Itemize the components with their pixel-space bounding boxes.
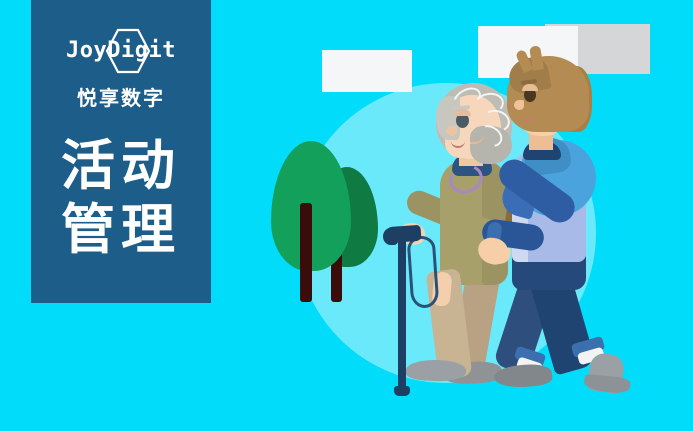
poster-canvas: JoyDigit 悦享数字 活动 管理 (0, 0, 693, 431)
man-shoe-front-sole (583, 374, 630, 395)
page-title: 活动 管理 (31, 134, 211, 262)
brand-logo-block: JoyDigit 悦享数字 (31, 28, 211, 111)
logo-mark: JoyDigit (31, 28, 211, 74)
logo-chinese-name: 悦享数字 (31, 82, 211, 111)
man-nose (514, 100, 524, 110)
page-title-line-2: 管理 (31, 198, 211, 262)
logo-wordmark: JoyDigit (31, 38, 211, 64)
man-eyelid (522, 84, 538, 91)
title-panel: JoyDigit 悦享数字 活动 管理 (31, 0, 211, 303)
page-title-line-1: 活动 (31, 134, 211, 198)
